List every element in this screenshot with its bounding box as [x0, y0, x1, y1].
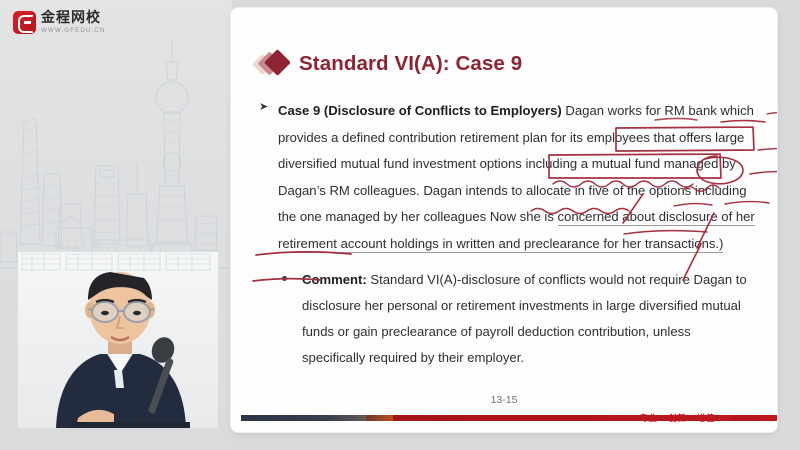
case-label: Case 9 (Disclosure of Conflicts to Emplo… — [278, 103, 562, 118]
arrow-bullet-icon: ➤ — [259, 102, 268, 113]
footer-red-bar — [393, 415, 777, 421]
comment-paragraph: Comment: Standard VI(A)-disclosure of co… — [302, 267, 757, 372]
footer-red-endcap — [733, 415, 761, 421]
slide-body: ➤ Case 9 (Disclosure of Conflicts to Emp… — [257, 98, 757, 371]
gfedu-logo-icon — [13, 11, 36, 34]
footer-navy-bar — [241, 415, 369, 421]
page-number: 13-15 — [231, 394, 777, 406]
diamond-bullet-icon — [255, 50, 289, 78]
brand-logo-text: 金程网校 WWW.GFEDU.CN — [41, 11, 105, 34]
instructor-video[interactable] — [18, 252, 218, 428]
shanghai-skyline-watermark — [0, 36, 232, 276]
slide-title-row: Standard VI(A): Case 9 — [255, 50, 522, 78]
page-title: Standard VI(A): Case 9 — [299, 52, 522, 76]
comment-bullet: Comment: Standard VI(A)-disclosure of co… — [257, 267, 757, 372]
presentation-slide: Standard VI(A): Case 9 ➤ Case 9 (Disclos… — [231, 8, 777, 432]
brand-name-cn: 金程网校 — [41, 11, 105, 25]
slide-footer-bar: 专业 · 创新 · 增值 — [241, 414, 767, 423]
left-branding-panel: 金程网校 WWW.GFEDU.CN — [0, 0, 232, 450]
slide-viewer: 金程网校 WWW.GFEDU.CN — [0, 0, 800, 450]
case-text-part1: Dagan works for RM bank which provides a… — [278, 103, 754, 224]
footer-slogan: 专业 · 创新 · 增值 — [640, 412, 715, 424]
brand-url: WWW.GFEDU.CN — [41, 28, 105, 34]
brand-logo: 金程网校 WWW.GFEDU.CN — [13, 11, 105, 34]
round-bullet-icon — [282, 276, 287, 281]
case-paragraph: Case 9 (Disclosure of Conflicts to Emplo… — [278, 98, 757, 258]
footer-orange-bar — [366, 415, 396, 421]
presenter-figure — [18, 252, 218, 428]
comment-text: Standard VI(A)-disclosure of conflicts w… — [302, 272, 747, 366]
comment-label: Comment: — [302, 272, 367, 287]
case-bullet: ➤ Case 9 (Disclosure of Conflicts to Emp… — [257, 98, 757, 258]
